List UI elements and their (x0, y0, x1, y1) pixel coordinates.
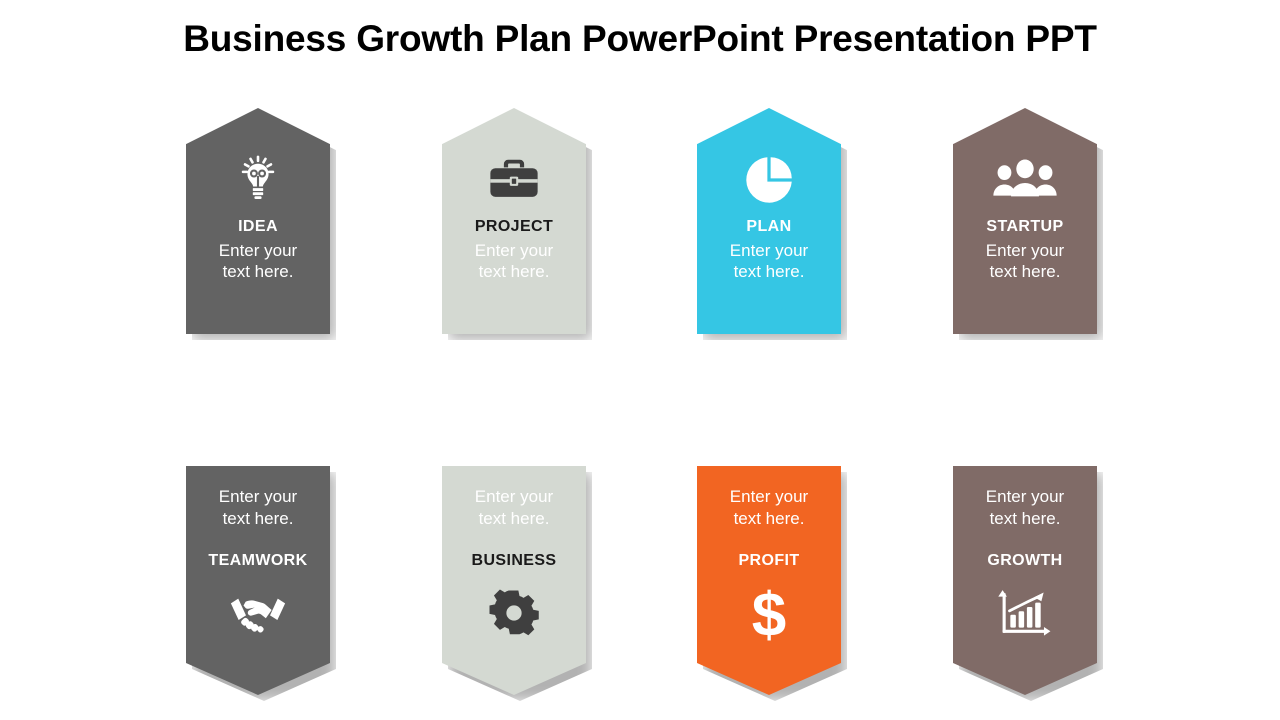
card-body-text: Enter your text here. (953, 240, 1097, 284)
gear-icon (442, 581, 586, 645)
card-shape-pentagon-up: PROJECT Enter your text here. (442, 108, 586, 334)
card-body-line-1: Enter your (450, 486, 578, 508)
dollar-sign-icon: $ (697, 581, 841, 645)
presentation-slide: Business Growth Plan PowerPoint Presenta… (0, 0, 1280, 720)
card-body-line-1: Enter your (194, 240, 322, 262)
card-body-line-1: Enter your (705, 240, 833, 262)
card-shape-pentagon-down: Enter your text here. TEAMWORK (186, 466, 330, 695)
card-body-text: Enter your text here. (442, 486, 586, 530)
briefcase-icon (442, 152, 586, 208)
card-body-text: Enter your text here. (953, 486, 1097, 530)
card-label: STARTUP (953, 218, 1097, 236)
card-profit[interactable]: Enter your text here. PROFIT $ (697, 466, 841, 695)
page-title: Business Growth Plan PowerPoint Presenta… (0, 18, 1280, 60)
card-body-text: Enter your text here. (697, 486, 841, 530)
svg-text:$: $ (752, 582, 786, 644)
card-shape-pentagon-down: Enter your text here. BUSINESS (442, 466, 586, 695)
card-shape-pentagon-up: IDEA Enter your text here. (186, 108, 330, 334)
card-business[interactable]: Enter your text here. BUSINESS (442, 466, 586, 695)
card-teamwork[interactable]: Enter your text here. TEAMWORK (186, 466, 330, 695)
card-body-line-2: text here. (961, 261, 1089, 283)
card-body-line-2: text here. (450, 261, 578, 283)
card-body-line-1: Enter your (705, 486, 833, 508)
card-body-line-1: Enter your (961, 486, 1089, 508)
pie-chart-icon (697, 152, 841, 208)
card-label: PROFIT (697, 552, 841, 570)
lightbulb-icon (186, 152, 330, 208)
card-label: GROWTH (953, 552, 1097, 570)
bottom-row-group: Enter your text here. TEAMWORK (0, 466, 1280, 698)
card-label: BUSINESS (442, 552, 586, 570)
card-body-text: Enter your text here. (186, 486, 330, 530)
card-body-line-2: text here. (194, 508, 322, 530)
card-body-line-2: text here. (705, 261, 833, 283)
card-body-line-1: Enter your (450, 240, 578, 262)
card-shape-pentagon-up: PLAN Enter your text here. (697, 108, 841, 334)
card-body-line-1: Enter your (961, 240, 1089, 262)
card-shape-pentagon-down: Enter your text here. PROFIT $ (697, 466, 841, 695)
card-body-line-2: text here. (450, 508, 578, 530)
growth-chart-icon (953, 581, 1097, 645)
card-label: PLAN (697, 218, 841, 236)
card-body-line-2: text here. (194, 261, 322, 283)
card-shape-pentagon-up: STARTUP Enter your text here. (953, 108, 1097, 334)
card-body-line-2: text here. (961, 508, 1089, 530)
card-body-line-2: text here. (705, 508, 833, 530)
card-body-text: Enter your text here. (186, 240, 330, 284)
top-row-group: IDEA Enter your text here. (0, 108, 1280, 338)
card-label: PROJECT (442, 218, 586, 236)
card-idea[interactable]: IDEA Enter your text here. (186, 108, 330, 334)
card-project[interactable]: PROJECT Enter your text here. (442, 108, 586, 334)
card-startup[interactable]: STARTUP Enter your text here. (953, 108, 1097, 334)
handshake-icon (186, 581, 330, 645)
card-shape-pentagon-down: Enter your text here. GROWTH (953, 466, 1097, 695)
card-growth[interactable]: Enter your text here. GROWTH (953, 466, 1097, 695)
card-label: TEAMWORK (186, 552, 330, 570)
card-label: IDEA (186, 218, 330, 236)
card-body-line-1: Enter your (194, 486, 322, 508)
card-body-text: Enter your text here. (442, 240, 586, 284)
card-body-text: Enter your text here. (697, 240, 841, 284)
people-group-icon (953, 152, 1097, 208)
card-plan[interactable]: PLAN Enter your text here. (697, 108, 841, 334)
